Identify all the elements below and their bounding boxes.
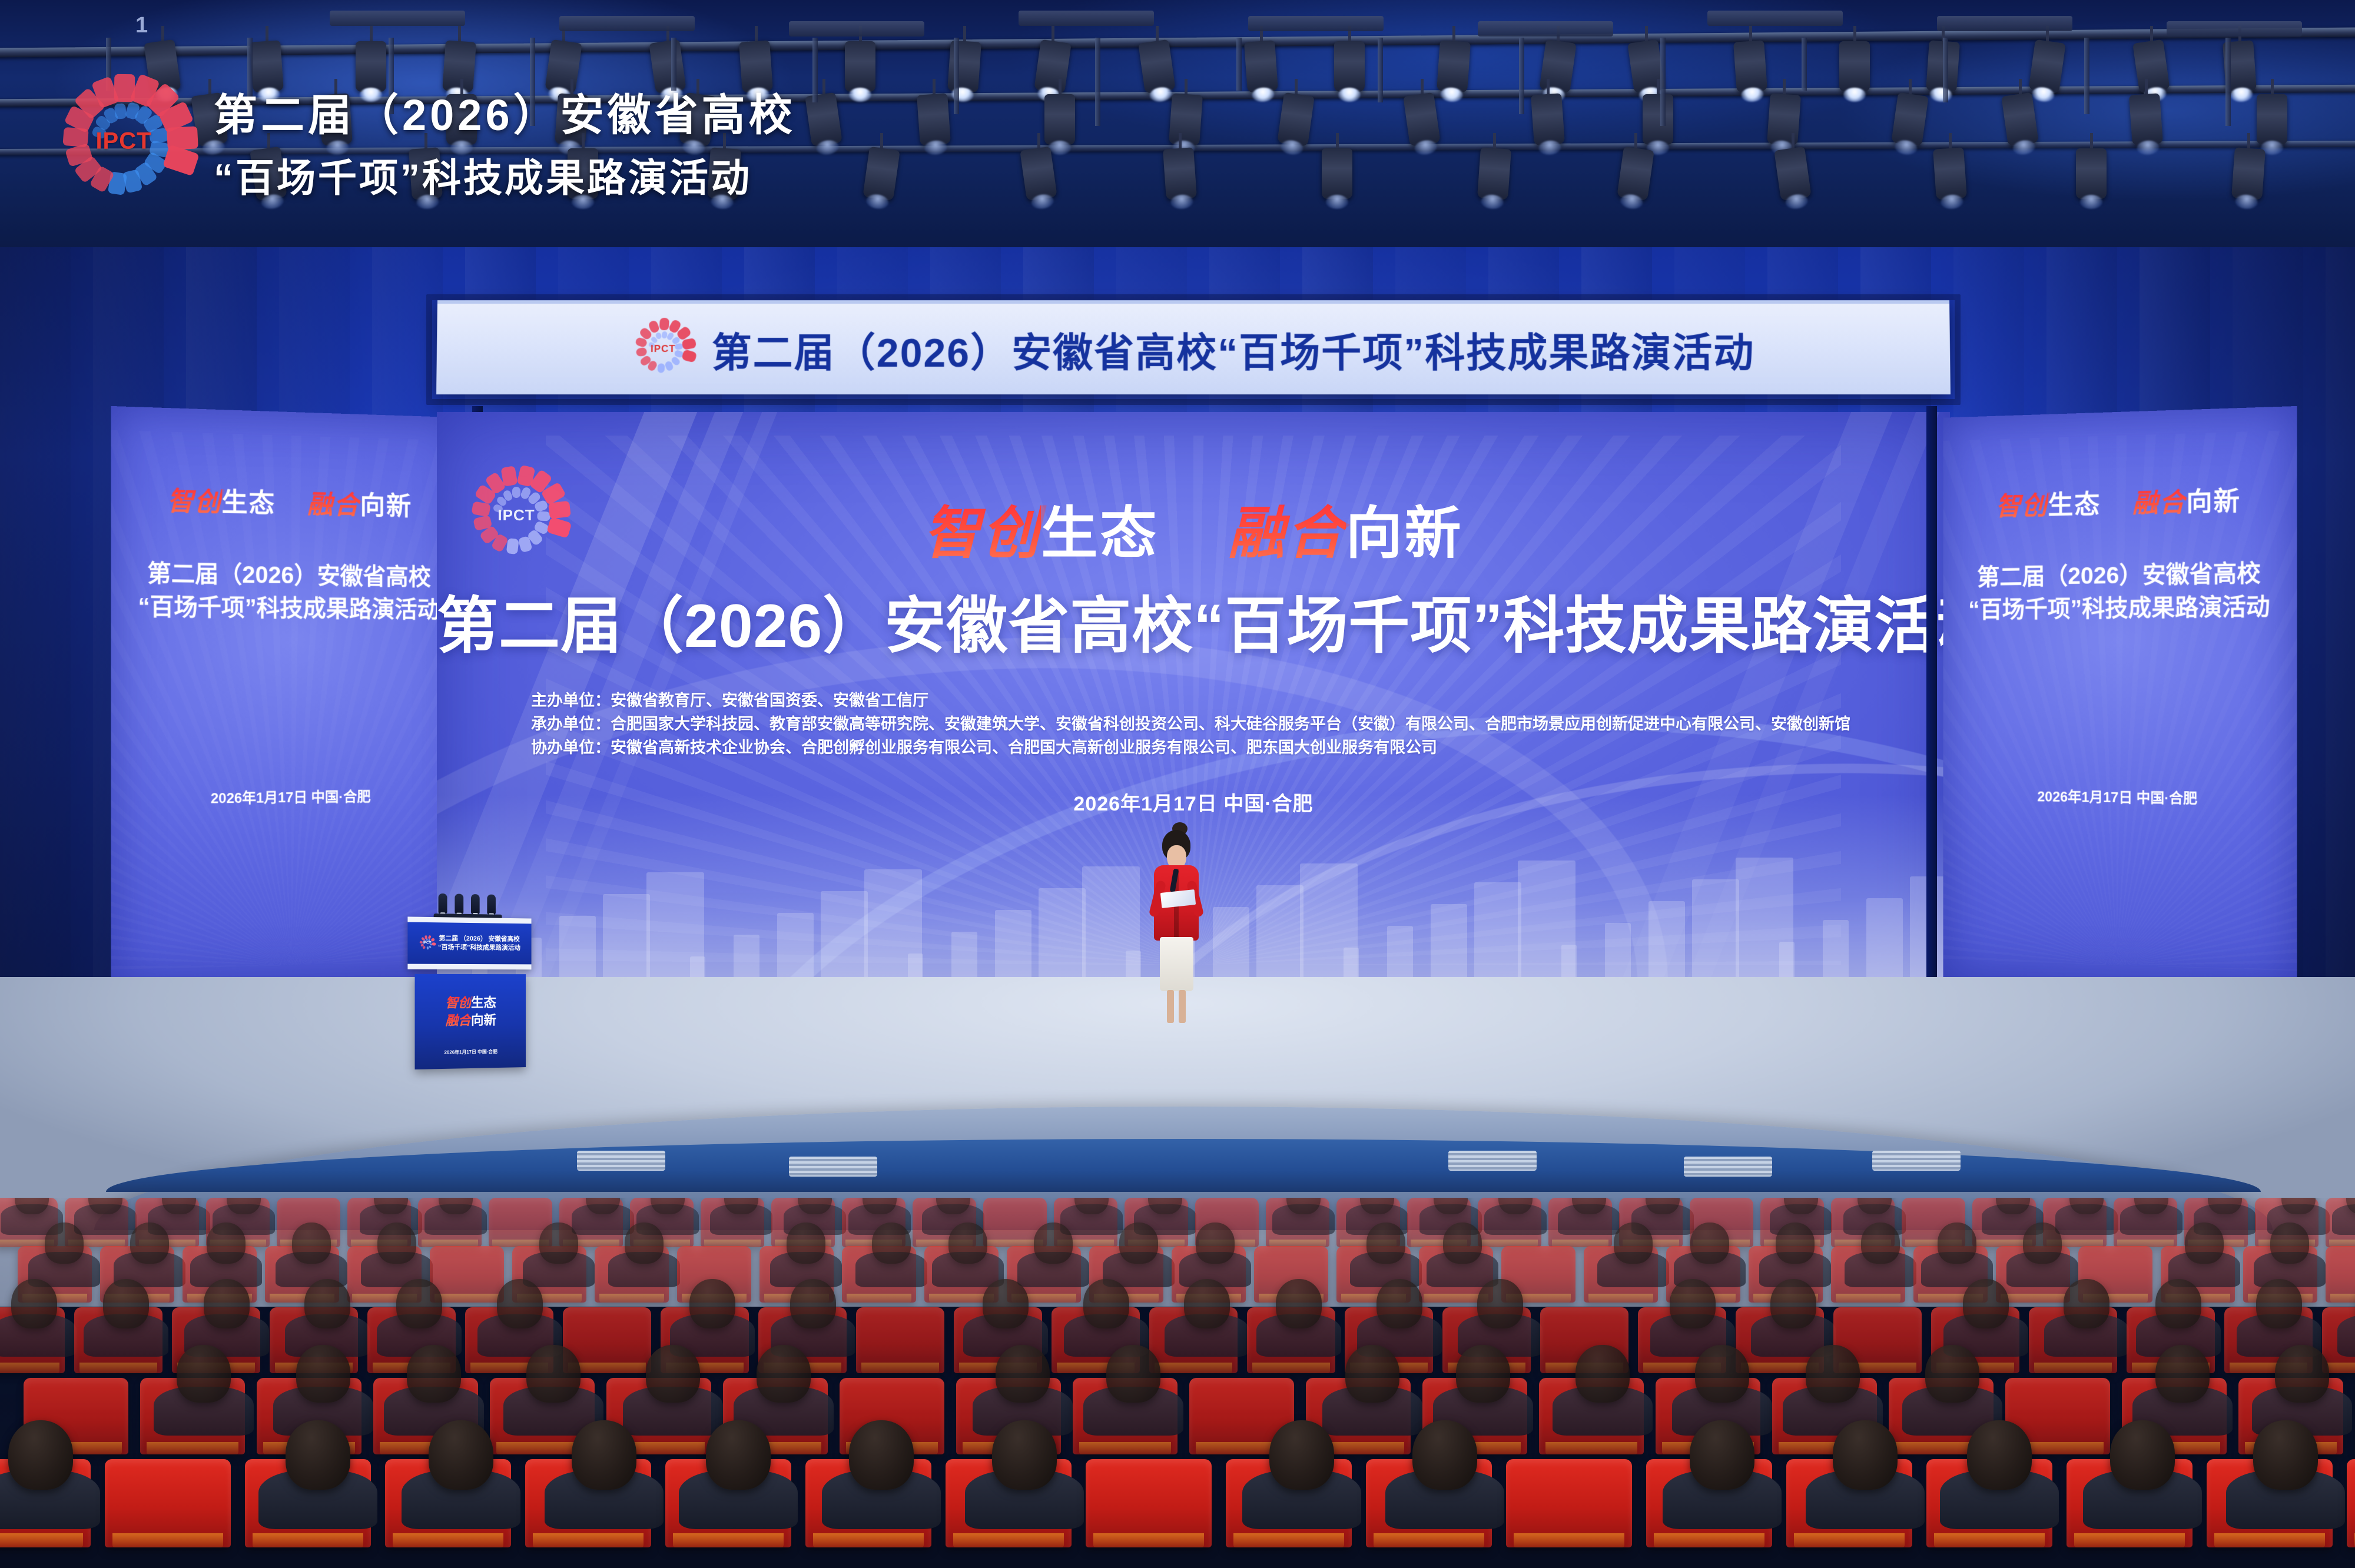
- audience-member-head: [429, 1420, 493, 1490]
- side-panel-title-line2: “百场千项”科技成果路演活动: [129, 590, 448, 627]
- slogan-white-2: 向新: [2186, 487, 2241, 517]
- audience-member-head: [1376, 1279, 1422, 1328]
- led-banner-emblem-icon: IPCT: [632, 318, 694, 380]
- side-panel-left: 智创生态 融合向新 第二届（2026）安徽省高校 “百场千项”科技成果路演活动 …: [111, 406, 465, 989]
- audience-member-head: [983, 1279, 1029, 1328]
- audience-member-head: [103, 1279, 149, 1328]
- audience-member-head: [1276, 1279, 1322, 1328]
- podium-header-line2: “百场千项”科技成果路演活动: [438, 944, 520, 953]
- audience-seat: [430, 1246, 504, 1303]
- podium-date: 2026年1月17日 中国·合肥: [415, 1048, 526, 1056]
- audience-member-head: [1119, 1222, 1158, 1264]
- backdrop-slogan-white-2: 向新: [1346, 502, 1464, 565]
- panel-seam-right: [1926, 406, 1937, 989]
- audience-member-head: [1106, 1345, 1160, 1403]
- audience-seat: [1086, 1459, 1212, 1547]
- audience-member-head: [948, 1222, 987, 1264]
- side-panel-title-line2: “百场千项”科技成果路演活动: [1960, 590, 2279, 627]
- audience-member-head: [1443, 1222, 1482, 1264]
- podium-slogan-white-1: 生态: [471, 995, 496, 1010]
- audience-member-head: [539, 1222, 578, 1264]
- audience-member-head: [689, 1279, 735, 1328]
- audience-member-head: [625, 1222, 664, 1264]
- audience-member-head: [2023, 1222, 2062, 1264]
- slogan-white-1: 生态: [2048, 490, 2101, 520]
- host-white-skirt: [1160, 937, 1193, 991]
- organizer-line-host: 主办单位：安徽省教育厅、安徽省国资委、安徽省工信厅: [531, 689, 1879, 712]
- ceiling-truss-area: 1: [0, 0, 2355, 277]
- audience-member-head: [130, 1222, 169, 1264]
- side-panel-title-line1: 第二届（2026）安徽省高校: [129, 557, 448, 594]
- organizer-line-co-organizer: 协办单位：安徽省高新技术企业协会、合肥创孵创业服务有限公司、合肥国大高新创业服务…: [531, 736, 1879, 759]
- podium: IPCT 第二届 （2026） 安徽省高校 “百场千项”科技成果路演活动 智创生…: [412, 891, 526, 1069]
- backdrop-date-location: 2026年1月17日 中国·合肥: [437, 788, 1950, 816]
- host-presenter: [1141, 830, 1212, 1024]
- audience-member-head: [2155, 1279, 2201, 1328]
- podium-slogan-accent-1: 智创: [446, 995, 471, 1010]
- audience-member-head: [1269, 1420, 1334, 1490]
- side-panel-left-title: 第二届（2026）安徽省高校 “百场千项”科技成果路演活动: [129, 557, 448, 627]
- audience-member-head: [872, 1222, 911, 1264]
- audience-member-head: [849, 1420, 914, 1490]
- audience-member-head: [1083, 1279, 1129, 1328]
- audience-member-head: [757, 1345, 811, 1403]
- side-panel-right-slogan: 智创生态 融合向新: [1943, 478, 2297, 524]
- led-banner-title: 第二届（2026）安徽省高校“百场千项”科技成果路演活动: [711, 320, 1754, 378]
- audience-member-head: [1963, 1279, 2009, 1328]
- audience-member-head: [177, 1345, 231, 1403]
- audience-member-head: [1690, 1420, 1754, 1490]
- audience-member-head: [2064, 1279, 2109, 1328]
- side-panel-title-line1: 第二届（2026）安徽省高校: [1960, 557, 2279, 594]
- podium-body: 智创生态 融合向新 2026年1月17日 中国·合肥: [415, 974, 526, 1069]
- organizer-line-organizer: 承办单位：合肥国家大学科技园、教育部安徽高等研究院、安徽建筑大学、安徽省科创投资…: [531, 712, 1879, 736]
- audience-member-head: [787, 1222, 825, 1264]
- slogan-accent-1: 智创: [1996, 491, 2048, 521]
- audience-member-head: [1695, 1345, 1749, 1403]
- slogan-accent-2: 融合: [2132, 488, 2186, 518]
- audience-member-head: [1477, 1279, 1523, 1328]
- audience-member-head: [45, 1222, 84, 1264]
- backdrop-title: 第二届（2026）安徽省高校“百场千项”科技成果路演活动: [437, 576, 1950, 665]
- audience-member-head: [526, 1345, 581, 1403]
- podium-header-line1: 第二届 （2026） 安徽省高校: [438, 934, 520, 944]
- audience-member-head: [1776, 1222, 1815, 1264]
- audience-member-head: [1670, 1279, 1716, 1328]
- audience-member-head: [377, 1222, 416, 1264]
- audience-member-head: [992, 1420, 1057, 1490]
- audience-member-head: [296, 1345, 350, 1403]
- backdrop-organizers: 主办单位：安徽省教育厅、安徽省国资委、安徽省工信厅 承办单位：合肥国家大学科技园…: [531, 689, 1879, 759]
- podium-slogan-accent-2: 融合: [446, 1013, 471, 1028]
- audience-member-head: [1833, 1420, 1898, 1490]
- backdrop-slogan: 智创生态 融合向新: [437, 487, 1950, 569]
- backdrop-slogan-accent-1: 智创: [923, 502, 1041, 565]
- audience-member-head: [1690, 1222, 1729, 1264]
- audience-member-head: [572, 1420, 636, 1490]
- audience-member-head: [497, 1279, 543, 1328]
- audience-member-head: [1034, 1222, 1073, 1264]
- audience-member-head: [1456, 1345, 1510, 1403]
- podium-slogan-white-2: 向新: [471, 1013, 496, 1028]
- audience-member-head: [304, 1279, 350, 1328]
- audience-seat: [2326, 1246, 2355, 1303]
- podium-header-sign: IPCT 第二届 （2026） 安徽省高校 “百场千项”科技成果路演活动: [407, 916, 531, 969]
- audience-member-head: [407, 1345, 461, 1403]
- side-panel-right-title: 第二届（2026）安徽省高校 “百场千项”科技成果路演活动: [1960, 557, 2279, 627]
- audience-member-head: [2253, 1420, 2318, 1490]
- audience-member-head: [1196, 1222, 1235, 1264]
- audience-member-head: [790, 1279, 836, 1328]
- slogan-white-2: 向新: [360, 491, 412, 521]
- audience-member-head: [1366, 1222, 1405, 1264]
- audience-member-head: [11, 1279, 57, 1328]
- audience-member-head: [286, 1420, 350, 1490]
- led-banner: IPCT 第二届（2026）安徽省高校“百场千项”科技成果路演活动: [436, 300, 1951, 394]
- rig-number-label: 1: [135, 13, 148, 38]
- audience-seat: [1506, 1459, 1632, 1547]
- audience-member-head: [1938, 1222, 1976, 1264]
- audience-member-head: [2110, 1420, 2175, 1490]
- side-panel-right: 智创生态 融合向新 第二届（2026）安徽省高校 “百场千项”科技成果路演活动 …: [1943, 406, 2297, 989]
- audience-member-head: [1770, 1279, 1816, 1328]
- slogan-white-1: 生态: [222, 488, 276, 518]
- audience-member-head: [996, 1345, 1050, 1403]
- audience-member-head: [396, 1279, 442, 1328]
- audience-member-head: [1184, 1279, 1230, 1328]
- podium-slogan: 智创生态 融合向新: [415, 994, 526, 1030]
- backdrop-slogan-accent-2: 融合: [1228, 502, 1346, 565]
- audience-member-head: [2256, 1279, 2302, 1328]
- audience-member-head: [1345, 1345, 1399, 1403]
- audience-member-head: [8, 1420, 73, 1490]
- slogan-accent-1: 智创: [167, 487, 222, 517]
- backdrop-slogan-white-1: 生态: [1041, 502, 1159, 565]
- audience-member-head: [2155, 1345, 2210, 1403]
- audience-member-head: [1614, 1222, 1653, 1264]
- audience-member-head: [646, 1345, 700, 1403]
- audience-member-head: [1806, 1345, 1860, 1403]
- audience-seat: [105, 1459, 231, 1547]
- audience-member-head: [1967, 1420, 2032, 1490]
- audience-member-head: [292, 1222, 331, 1264]
- audience-member-head: [2270, 1222, 2309, 1264]
- audience-member-head: [1925, 1345, 1979, 1403]
- audience-member-head: [706, 1420, 771, 1490]
- audience-member-head: [1575, 1345, 1630, 1403]
- audience-member-head: [204, 1279, 250, 1328]
- audience-member-head: [1412, 1420, 1477, 1490]
- audience-member-head: [2185, 1222, 2224, 1264]
- audience-member-head: [2275, 1345, 2329, 1403]
- audience-seat: [856, 1307, 944, 1373]
- audience-seat: [2347, 1459, 2355, 1547]
- slogan-accent-2: 融合: [307, 490, 360, 520]
- audience-seating: [0, 1198, 2355, 1568]
- audience-member-head: [207, 1222, 246, 1264]
- event-photo-scene: 1 IPCT 第二届（2026）安徽省高校“百场千项”科技成果路演活动 智创生态…: [0, 0, 2355, 1568]
- audience-member-head: [1861, 1222, 1900, 1264]
